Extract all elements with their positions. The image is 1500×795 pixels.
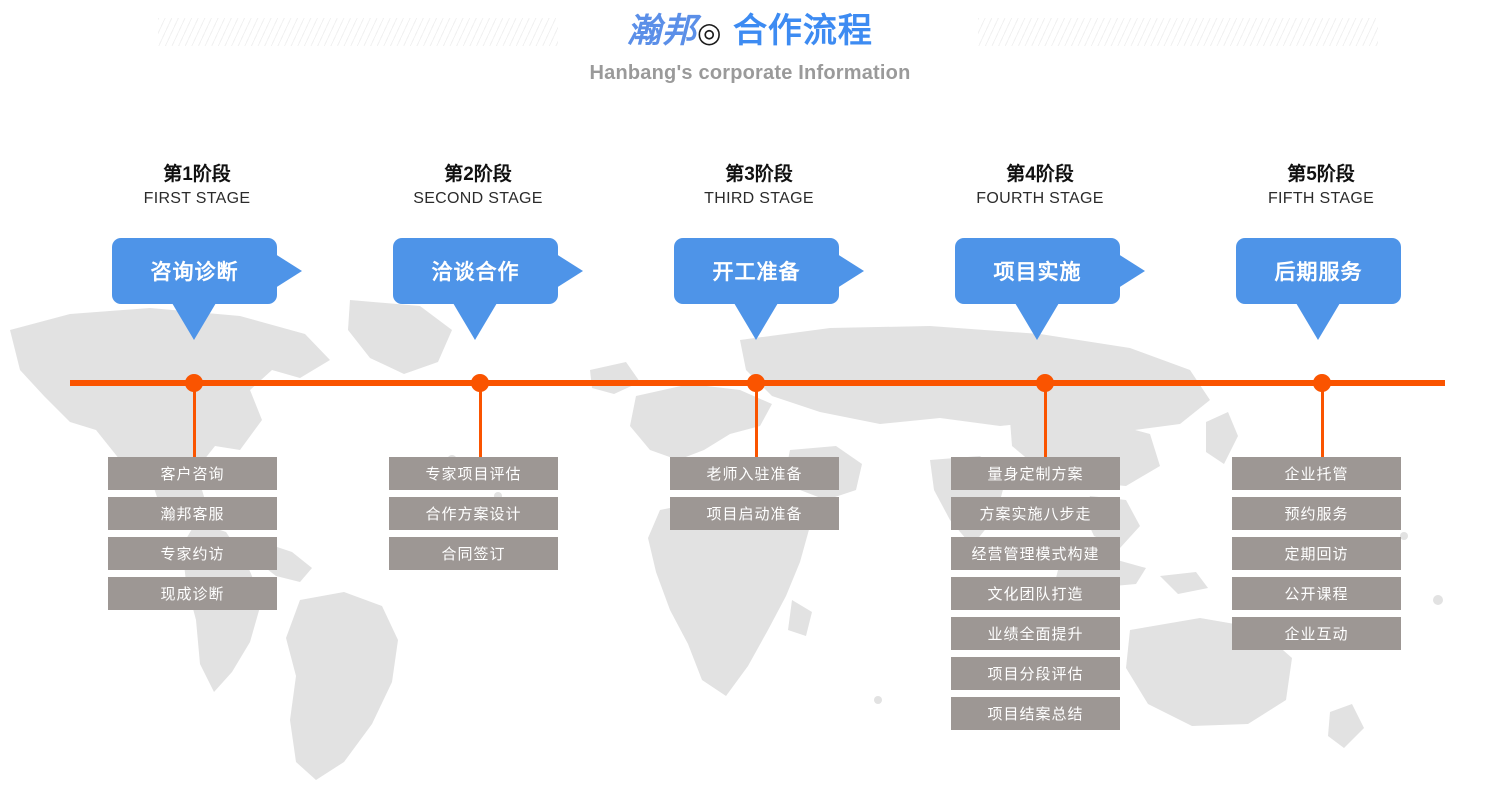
timeline-connector-5 [1321, 386, 1324, 457]
stage-title-en-4: FOURTH STAGE [945, 187, 1135, 211]
timeline-connector-4 [1044, 386, 1047, 457]
list-item[interactable]: 企业互动 [1232, 617, 1401, 650]
list-item[interactable]: 专家项目评估 [389, 457, 558, 490]
stage-bubble-label-1: 咨询诊断 [112, 238, 277, 304]
stage-bubble-pointer-icon-3 [734, 303, 778, 340]
list-item[interactable]: 文化团队打造 [951, 577, 1120, 610]
stage-heading-1: 第1阶段FIRST STAGE [102, 163, 292, 211]
stage-heading-5: 第5阶段FIFTH STAGE [1226, 163, 1416, 211]
stage-bubble-label-4: 项目实施 [955, 238, 1120, 304]
stage-heading-2: 第2阶段SECOND STAGE [383, 163, 573, 211]
stage-title-en-5: FIFTH STAGE [1226, 187, 1416, 211]
list-item[interactable]: 瀚邦客服 [108, 497, 277, 530]
timeline-connector-3 [755, 386, 758, 457]
list-item[interactable]: 项目启动准备 [670, 497, 839, 530]
stage-item-list-5: 企业托管预约服务定期回访公开课程企业互动 [1232, 457, 1401, 657]
page-header: 瀚邦◎ 合作流程 Hanbang's corporate Information [0, 0, 1500, 110]
stage-bubble-pointer-icon-4 [1015, 303, 1059, 340]
page-subtitle: Hanbang's corporate Information [0, 62, 1500, 85]
list-item[interactable]: 经营管理模式构建 [951, 537, 1120, 570]
stage-heading-3: 第3阶段THIRD STAGE [664, 163, 854, 211]
stage-title-cn-2: 第2阶段 [383, 163, 573, 187]
stage-bubble-label-3: 开工准备 [674, 238, 839, 304]
list-item[interactable]: 定期回访 [1232, 537, 1401, 570]
list-item[interactable]: 现成诊断 [108, 577, 277, 610]
stage-title-en-3: THIRD STAGE [664, 187, 854, 211]
page-title-main: 合作流程 [733, 12, 873, 50]
stage-bubble-pointer-icon-5 [1296, 303, 1340, 340]
stage-bubble-pointer-icon-2 [453, 303, 497, 340]
list-item[interactable]: 老师入驻准备 [670, 457, 839, 490]
stage-title-cn-4: 第4阶段 [945, 163, 1135, 187]
brand-mark-icon: ◎ [697, 17, 722, 48]
infographic-root: 瀚邦◎ 合作流程 Hanbang's corporate Information… [0, 0, 1500, 795]
list-item[interactable]: 预约服务 [1232, 497, 1401, 530]
stage-item-list-2: 专家项目评估合作方案设计合同签订 [389, 457, 558, 577]
list-item[interactable]: 项目结案总结 [951, 697, 1120, 730]
timeline-connector-2 [479, 386, 482, 457]
list-item[interactable]: 方案实施八步走 [951, 497, 1120, 530]
list-item[interactable]: 企业托管 [1232, 457, 1401, 490]
page-title: 瀚邦◎ 合作流程 [0, 8, 1500, 56]
list-item[interactable]: 量身定制方案 [951, 457, 1120, 490]
stage-bubble-pointer-icon-1 [172, 303, 216, 340]
list-item[interactable]: 业绩全面提升 [951, 617, 1120, 650]
stage-bubble-label-2: 洽谈合作 [393, 238, 558, 304]
brand-name: 瀚邦 [627, 11, 697, 51]
list-item[interactable]: 项目分段评估 [951, 657, 1120, 690]
timeline-connector-1 [193, 386, 196, 457]
stage-title-cn-3: 第3阶段 [664, 163, 854, 187]
list-item[interactable]: 合同签订 [389, 537, 558, 570]
stage-title-en-1: FIRST STAGE [102, 187, 292, 211]
list-item[interactable]: 合作方案设计 [389, 497, 558, 530]
stage-bubble-label-5: 后期服务 [1236, 238, 1401, 304]
stage-item-list-3: 老师入驻准备项目启动准备 [670, 457, 839, 537]
list-item[interactable]: 专家约访 [108, 537, 277, 570]
list-item[interactable]: 客户咨询 [108, 457, 277, 490]
stage-heading-4: 第4阶段FOURTH STAGE [945, 163, 1135, 211]
stage-item-list-1: 客户咨询瀚邦客服专家约访现成诊断 [108, 457, 277, 617]
stage-title-cn-5: 第5阶段 [1226, 163, 1416, 187]
list-item[interactable]: 公开课程 [1232, 577, 1401, 610]
stage-title-cn-1: 第1阶段 [102, 163, 292, 187]
stage-title-en-2: SECOND STAGE [383, 187, 573, 211]
stage-item-list-4: 量身定制方案方案实施八步走经营管理模式构建文化团队打造业绩全面提升项目分段评估项… [951, 457, 1120, 737]
